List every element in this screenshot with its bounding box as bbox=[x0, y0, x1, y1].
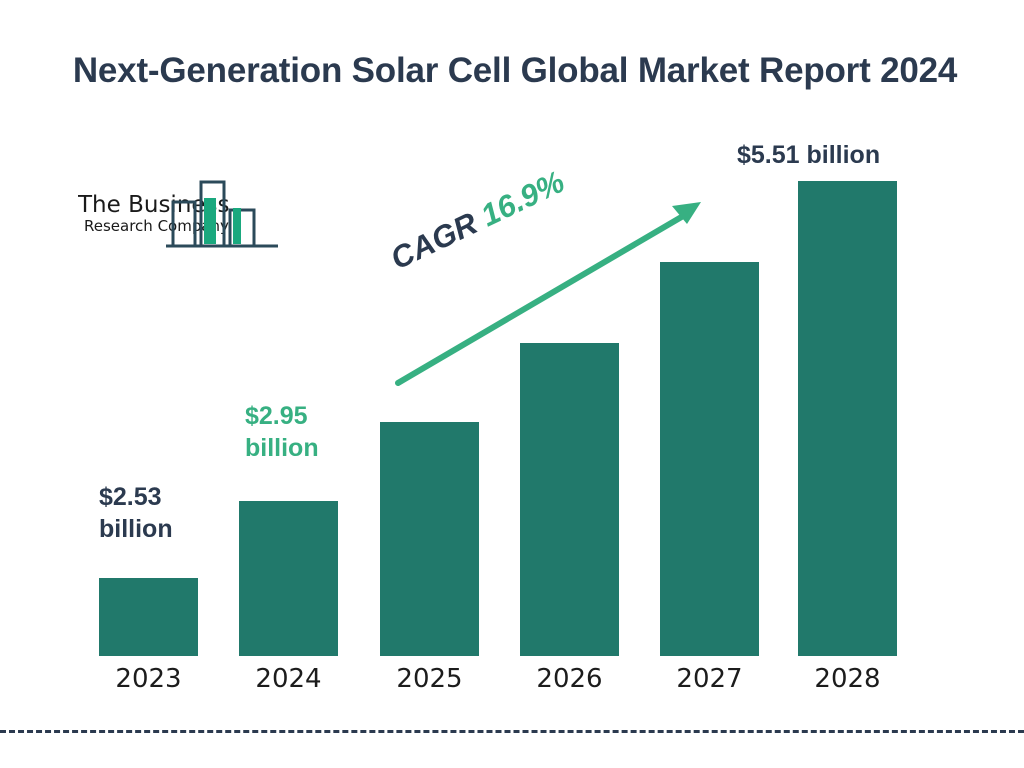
x-tick-2025: 2025 bbox=[380, 664, 479, 694]
x-tick-2023: 2023 bbox=[99, 664, 198, 694]
value-label-2024: $2.95 billion bbox=[245, 401, 319, 464]
bar-2028 bbox=[798, 181, 897, 656]
bar-2024 bbox=[239, 501, 338, 656]
x-tick-2024: 2024 bbox=[239, 664, 338, 694]
bottom-divider bbox=[0, 730, 1024, 733]
bar-2025 bbox=[380, 422, 479, 656]
bar-2026 bbox=[520, 343, 619, 656]
x-tick-2028: 2028 bbox=[798, 664, 897, 694]
value-label-2028: $5.51 billion bbox=[737, 140, 880, 172]
plot-area bbox=[0, 0, 1024, 768]
x-tick-2026: 2026 bbox=[520, 664, 619, 694]
x-tick-2027: 2027 bbox=[660, 664, 759, 694]
bar-2027 bbox=[660, 262, 759, 656]
value-label-2023: $2.53 billion bbox=[99, 482, 173, 545]
bar-2023 bbox=[99, 578, 198, 656]
chart-canvas: Next-Generation Solar Cell Global Market… bbox=[0, 0, 1024, 768]
